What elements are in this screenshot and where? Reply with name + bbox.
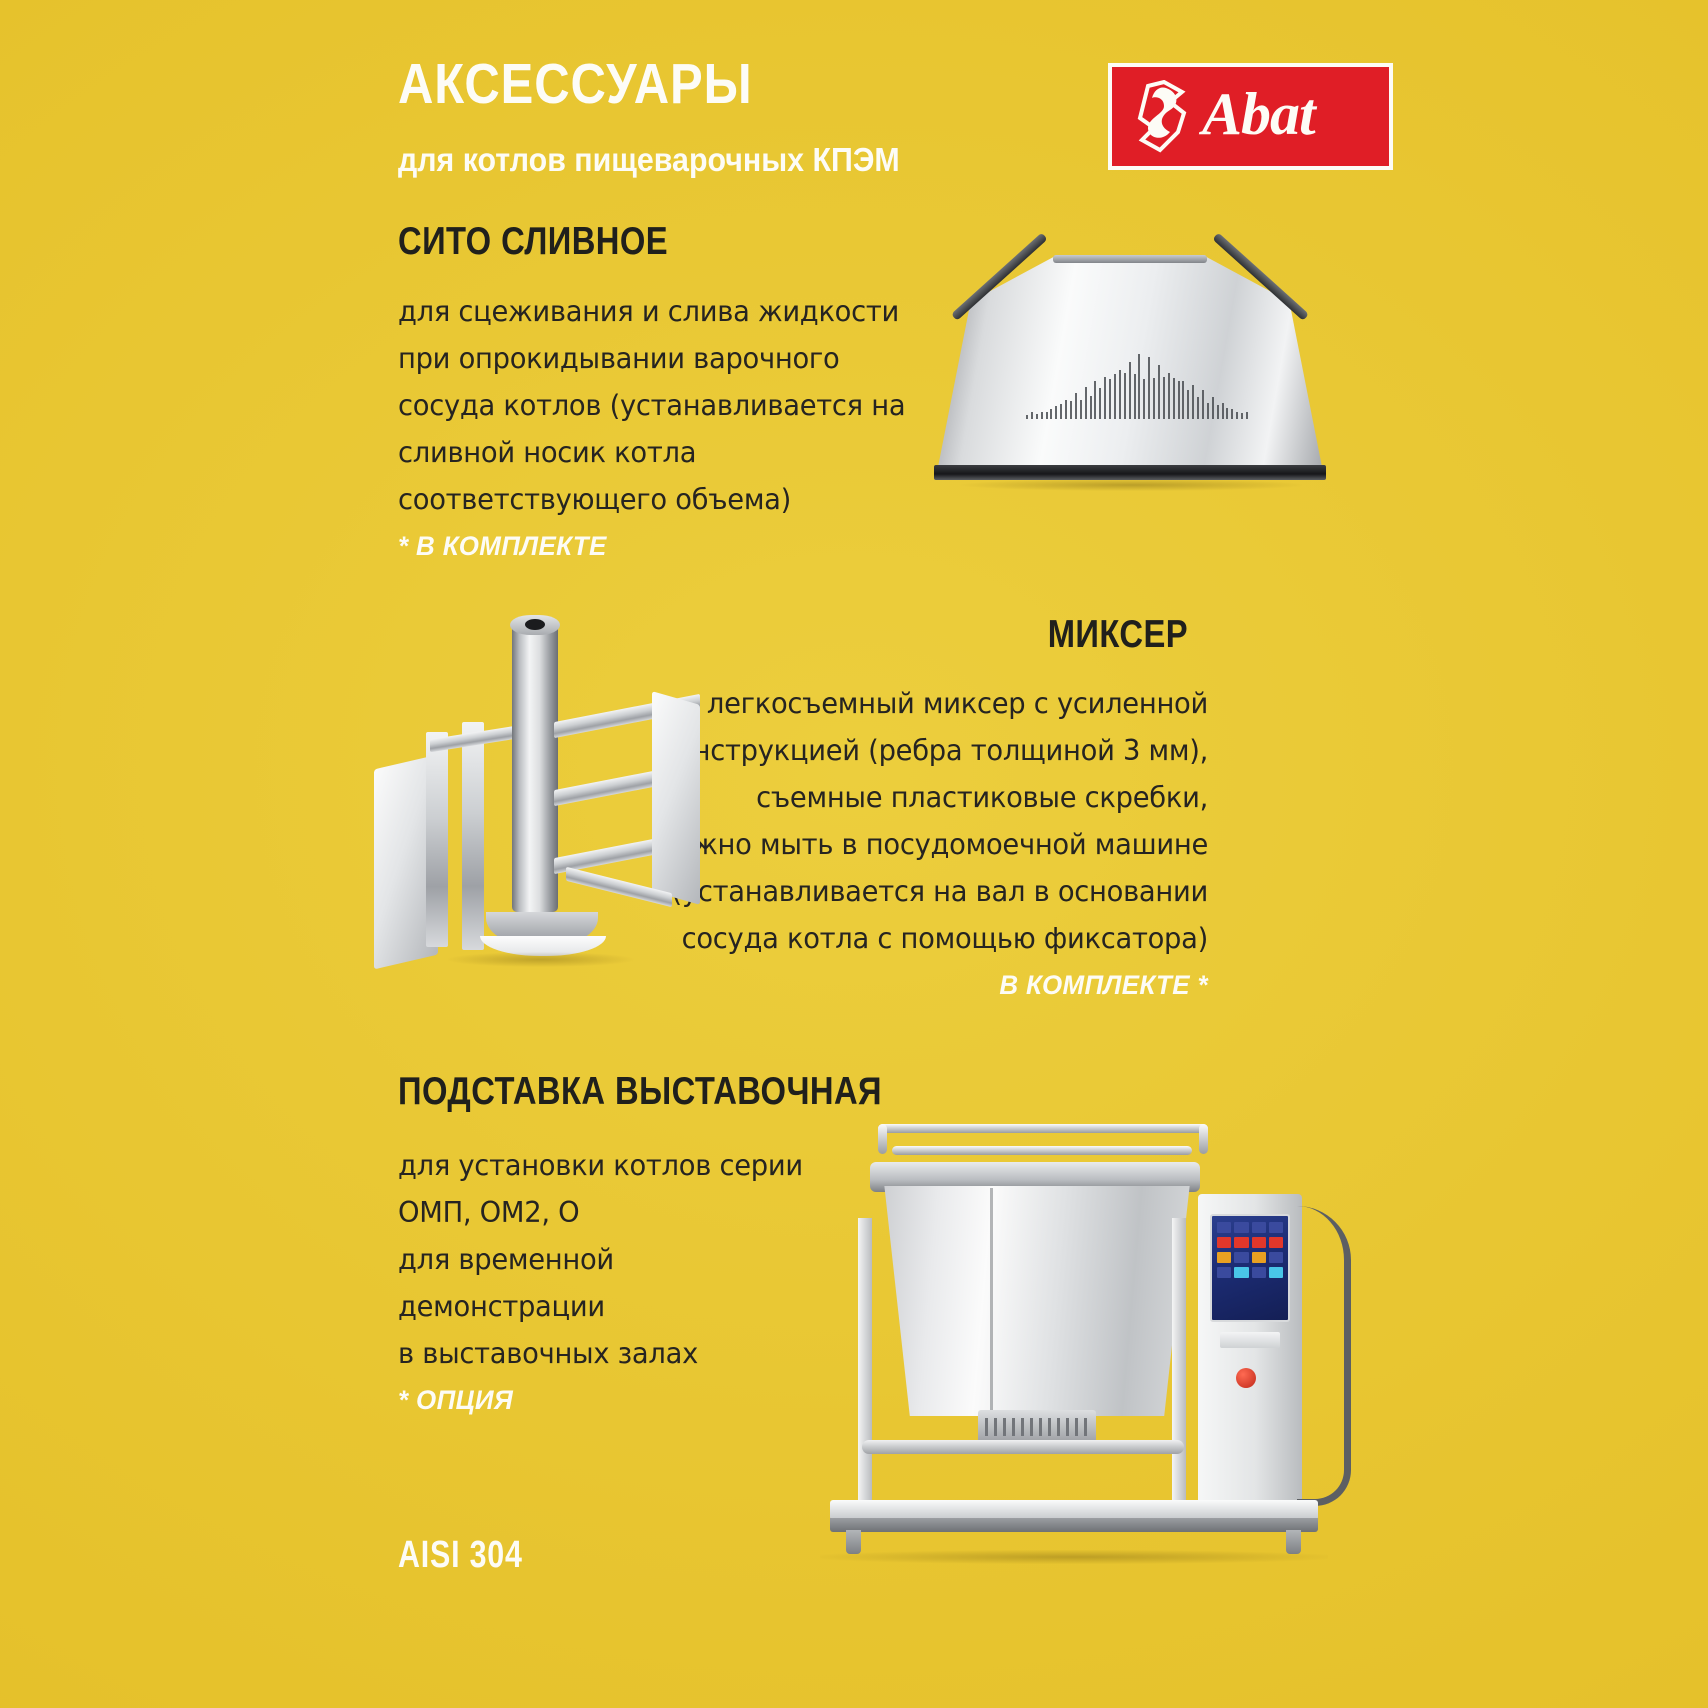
mixer-shadow xyxy=(448,952,634,967)
page-subtitle: для котлов пищеварочных КПЭМ xyxy=(398,143,900,176)
mixer-rib-2 xyxy=(462,722,484,950)
mixer-shaft xyxy=(512,622,558,912)
abat-logo: Abat xyxy=(1108,63,1393,170)
sieve-base-edge xyxy=(934,465,1326,480)
stand-leg-right xyxy=(1172,1218,1186,1518)
section-heading-sito: СИТО СЛИВНОЕ xyxy=(398,222,668,261)
boiler-vessel xyxy=(878,1186,1196,1416)
podstavka-line-4: в выставочных залах xyxy=(398,1337,698,1370)
power-cable xyxy=(1297,1206,1351,1506)
stand-cross-beam xyxy=(862,1440,1184,1454)
boiler-vessel-seam xyxy=(990,1188,993,1416)
boiler-drain-grill xyxy=(978,1410,1096,1444)
abat-logo-text: Abat xyxy=(1202,84,1315,150)
mikser-line-1: легкосъемный миксер с усиленной xyxy=(707,687,1208,720)
drain-sieve-photo xyxy=(930,243,1330,488)
podstavka-line-1: для установки котлов серии xyxy=(398,1149,803,1182)
sito-line-4: сливной носик котла xyxy=(398,436,696,469)
emergency-stop-button[interactable] xyxy=(1236,1368,1256,1388)
sito-line-3: сосуда котлов (устанавливается на xyxy=(398,389,905,422)
mikser-line-3: съемные пластиковые скребки, xyxy=(756,781,1208,814)
podstavka-line-2: ОМП, ОМ2, О xyxy=(398,1196,579,1229)
mikser-line-2: конструкцией (ребра толщиной 3 мм), xyxy=(660,734,1208,767)
section-body-mikser: легкосъемный миксер с усиленной конструк… xyxy=(651,680,1208,1009)
sito-line-1: для сцеживания и слива жидкости xyxy=(398,295,899,328)
section-heading-mikser: МИКСЕР xyxy=(1048,615,1188,654)
mixer-rib-1 xyxy=(426,732,448,947)
mikser-line-5: (устанавливается на вал в основании xyxy=(672,875,1208,908)
mikser-note: В КОМПЛЕКТЕ * xyxy=(651,962,1208,1009)
stand-base-side xyxy=(830,1518,1318,1532)
section-body-sito: для сцеживания и слива жидкости при опро… xyxy=(398,288,907,570)
exhibition-stand-boiler-photo xyxy=(800,1110,1360,1560)
mikser-line-4: можно мыть в посудомоечной машине xyxy=(656,828,1208,861)
material-grade-label: AISI 304 xyxy=(398,1534,523,1577)
sieve-perforations xyxy=(1026,351,1246,419)
poster-page: АКСЕССУАРЫ для котлов пищеварочных КПЭМ … xyxy=(0,0,1708,1708)
stand-base-top xyxy=(830,1500,1318,1520)
page-title: АКСЕССУАРЫ xyxy=(398,56,752,113)
control-panel-brand-badge xyxy=(1220,1332,1280,1348)
podstavka-note: * ОПЦИЯ xyxy=(398,1377,811,1424)
mixer-photo xyxy=(370,612,700,972)
sito-note: * В КОМПЛЕКТЕ xyxy=(398,523,907,570)
section-body-podstavka: для установки котлов серии ОМП, ОМ2, О д… xyxy=(398,1142,811,1424)
sieve-top-edge xyxy=(1053,255,1207,263)
podstavka-line-3: для временной демонстрации xyxy=(398,1243,614,1323)
sito-line-2: при опрокидывании варочного xyxy=(398,342,839,375)
control-panel-display xyxy=(1210,1214,1290,1322)
section-heading-podstavka: ПОДСТАВКА ВЫСТАВОЧНАЯ xyxy=(398,1072,882,1111)
mixer-shaft-socket xyxy=(525,619,545,630)
stand-leg-left xyxy=(858,1218,872,1518)
mikser-line-6: сосуда котла с помощью фиксатора) xyxy=(682,922,1208,955)
mixer-scraper-plate-right xyxy=(652,691,700,905)
abat-s-monogram-icon xyxy=(1130,80,1196,154)
sito-line-5: соответствующего объема) xyxy=(398,483,791,516)
sieve-shadow xyxy=(960,479,1302,491)
stand-shadow xyxy=(820,1550,1328,1564)
